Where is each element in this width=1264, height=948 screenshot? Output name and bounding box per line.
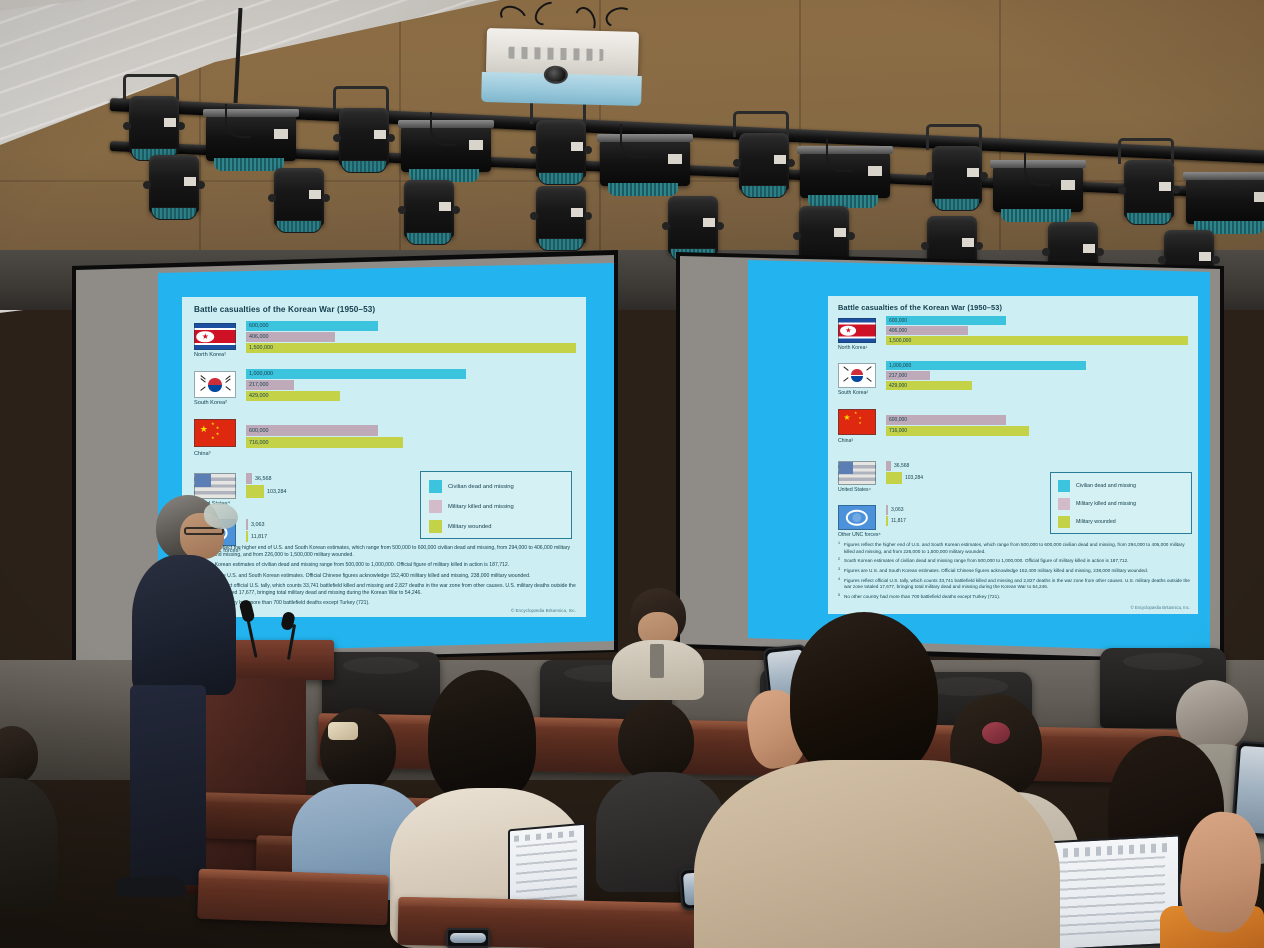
chart-legend: Civilian dead and missing Military kille… [420, 471, 572, 539]
footnote: 2 South Korean estimates of civilian dea… [194, 562, 578, 569]
stage-light-fixture [129, 96, 179, 154]
bar-military-killed: 217,000 [246, 380, 576, 390]
footnote: 4 Figures reflect official U.S. tally, w… [194, 583, 578, 597]
footnote: 1 Figures reflect the higher end of U.S.… [194, 545, 578, 559]
bar-military-killed: 406,000 [886, 326, 1188, 335]
bar-civilian: 1,000,000 [246, 369, 576, 379]
slide-title: Battle casualties of the Korean War (195… [194, 305, 375, 314]
bar-military-killed: 406,000 [246, 332, 576, 342]
lecture-hall-photo: Battle casualties of the Korean War (195… [0, 0, 1264, 948]
footnote-marker: 4 [838, 577, 840, 582]
flag-north-korea-icon: ★ [194, 323, 236, 350]
stage-light-fresnel [1186, 178, 1264, 224]
legend-item-military-killed: Military killed and missing [1058, 498, 1136, 510]
footnote-marker: 1 [838, 541, 840, 546]
chart-row-north-korea: ★ North Korea¹ 600,000 406,000 [194, 321, 578, 369]
chart-row-label: South Korea² [194, 400, 227, 406]
hair-clip [328, 722, 358, 740]
presenter-hand [204, 503, 238, 529]
chart-row-label: North Korea¹ [194, 352, 226, 358]
bar-value: 217,000 [889, 373, 907, 379]
bench-top-edge [398, 897, 698, 912]
stage-light-fresnel [206, 115, 296, 161]
flag-north-korea-icon: ★ [838, 318, 876, 343]
bar-value: 103,284 [905, 475, 923, 481]
bar-civilian: 600,000 [246, 321, 576, 331]
stage-light-fixture [274, 168, 324, 226]
bar-military-killed: 600,000 [886, 415, 1188, 425]
flag-china-icon: ★ ★ ★ ★ ★ [194, 419, 236, 447]
bar-group: 600,000 406,000 1,500,000 [246, 321, 576, 354]
footnote-marker: 5 [838, 593, 840, 598]
presenter-legs [130, 685, 206, 885]
legend-label: Military killed and missing [448, 504, 514, 510]
person-head [320, 708, 396, 792]
stage-light-fixture [536, 120, 586, 178]
person-torso [0, 778, 58, 908]
bar-value: 217,000 [249, 382, 269, 388]
slide-title: Battle casualties of the Korean War (195… [838, 303, 1002, 312]
legend-swatch-icon [1058, 516, 1070, 528]
bar-value: 1,500,000 [249, 345, 273, 351]
hair-scrunchie [982, 722, 1010, 744]
phone-on-desk [446, 928, 490, 948]
person-head [618, 700, 694, 782]
stage-light-fixture [668, 196, 718, 254]
bar-value: 716,000 [249, 440, 269, 446]
power-cable [225, 104, 251, 138]
bar-group: 600,000 406,000 1,500,000 [886, 316, 1188, 346]
bar-military-killed: 600,000 [246, 425, 576, 436]
footnote-marker: 2 [838, 557, 840, 562]
stage-light-fixture [149, 155, 199, 213]
bar-military-wounded: 429,000 [886, 381, 1188, 390]
bar-value: 429,000 [889, 383, 907, 389]
bar-value: 600,000 [249, 428, 269, 434]
bar-value: 716,000 [889, 428, 907, 434]
chart-row-label: China³ [194, 451, 210, 457]
bar-value: 3,063 [891, 507, 904, 513]
chart-row-south-korea: South Korea² 1,000,000 217,000 [838, 361, 1190, 407]
footnote-text: Figures are U.S. and South Korean estima… [200, 573, 530, 579]
bar-value: 406,000 [889, 328, 907, 334]
bar-group: 600,000 716,000 [246, 425, 576, 449]
footnote-text: Figures reflect the higher end of U.S. a… [844, 542, 1185, 554]
chart-row-label: Other UNC forces⁵ [838, 532, 881, 538]
stage-light-fixture [404, 180, 454, 238]
footnote-text: No other country had more than 700 battl… [844, 594, 1000, 599]
legend-swatch-icon [429, 480, 442, 493]
bar-value: 600,000 [889, 417, 907, 423]
legend-item-military-wounded: Military wounded [1058, 516, 1116, 528]
legend-swatch-icon [1058, 498, 1070, 510]
slide-left: Battle casualties of the Korean War (195… [182, 297, 586, 617]
flag-united-states-icon [838, 461, 876, 485]
bar-value: 11,817 [251, 534, 267, 540]
legend-label: Civilian dead and missing [448, 484, 514, 490]
legend-item-military-killed: Military killed and missing [429, 500, 514, 513]
person-head [790, 612, 938, 782]
flag-south-korea-icon [194, 371, 236, 398]
presenter-torso [132, 555, 236, 695]
presenter-shoes [116, 877, 186, 897]
bar-value: 11,817 [891, 518, 906, 524]
projector-ports [508, 47, 603, 61]
projection-screen-right: Battle casualties of the Korean War (195… [680, 256, 1220, 660]
footnote-text: Figures reflect the higher end of U.S. a… [200, 545, 570, 558]
footnote: 2 South Korean estimates of civilian dea… [838, 558, 1190, 565]
stage-light-fixture [799, 206, 849, 264]
bar-value: 1,500,000 [889, 338, 911, 344]
legend-label: Military wounded [1076, 519, 1116, 525]
person-torso [694, 760, 1060, 948]
legend-item-civilian: Civilian dead and missing [429, 480, 514, 493]
footnote-text: Figures are U.S. and South Korean estima… [844, 568, 1148, 573]
footnote: 4 Figures reflect official U.S. tally, w… [838, 578, 1190, 591]
bar-value: 600,000 [889, 318, 907, 324]
laptop-toolbar [1052, 843, 1170, 858]
audience-desk [197, 869, 389, 926]
footnote-text: Figures reflect official U.S. tally, whi… [200, 583, 576, 596]
footnote-text: South Korean estimates of civilian dead … [844, 558, 1128, 563]
chart-row-label: China³ [838, 438, 853, 444]
bar-group: 1,000,000 217,000 429,000 [246, 369, 576, 402]
power-cable [826, 138, 852, 172]
slide-right: Battle casualties of the Korean War (195… [828, 296, 1198, 614]
bar-value: 1,000,000 [889, 363, 911, 369]
footnote: 3 Figures are U.S. and South Korean esti… [838, 568, 1190, 575]
chart-row-china: ★ ★ ★ ★ ★ China³ 600,000 [194, 417, 578, 469]
phone-screen [450, 933, 486, 943]
bar-group: 600,000 716,000 [886, 415, 1188, 437]
ceiling-projector [481, 28, 645, 110]
projected-image-right: Battle casualties of the Korean War (195… [748, 260, 1210, 652]
chart-row-north-korea: ★ North Korea¹ 600,000 406,000 [838, 316, 1190, 361]
legend-label: Military killed and missing [1076, 501, 1136, 507]
stage-light-fixture [1124, 160, 1174, 218]
legend-item-civilian: Civilian dead and missing [1058, 480, 1136, 492]
chart-row-china: ★ ★ ★ ★ China³ 600,000 [838, 407, 1190, 457]
bar-value: 429,000 [249, 393, 269, 399]
flag-south-korea-icon [838, 363, 876, 388]
legend-swatch-icon [429, 500, 442, 513]
legend-swatch-icon [1058, 480, 1070, 492]
footnote-text: South Korean estimates of civilian dead … [200, 562, 509, 568]
stage-light-fixture [932, 146, 982, 204]
slide-footnotes: 1 Figures reflect the higher end of U.S.… [194, 545, 578, 608]
slide-footnotes: 1 Figures reflect the higher end of U.S.… [838, 542, 1190, 601]
bar-civilian: 1,000,000 [886, 361, 1188, 370]
stage-light-fixture [536, 186, 586, 244]
power-cable [430, 112, 456, 146]
bar-military-wounded: 1,500,000 [246, 343, 576, 353]
footnote: 5 No other country had more than 700 bat… [838, 594, 1190, 601]
laptop-content [1055, 856, 1165, 936]
footnote: 1 Figures reflect the higher end of U.S.… [838, 542, 1190, 555]
bar-military-wounded: 429,000 [246, 391, 576, 401]
chart-row-south-korea: South Korea² 1,000,000 217,000 [194, 369, 578, 417]
bar-military-wounded: 716,000 [246, 437, 576, 448]
stage-light-fixture [339, 108, 389, 166]
legend-item-military-wounded: Military wounded [429, 520, 492, 533]
legend-label: Military wounded [448, 524, 492, 530]
slide-credit: © Encyclopædia Britannica, Inc. [1131, 605, 1190, 610]
bar-group: 1,000,000 217,000 429,000 [886, 361, 1188, 391]
person-head [428, 670, 536, 804]
bar-value: 3,063 [251, 522, 265, 528]
footnote: 3 Figures are U.S. and South Korean esti… [194, 573, 578, 580]
footnote-marker: 3 [838, 567, 840, 572]
chart-legend: Civilian dead and missing Military kille… [1050, 472, 1192, 534]
flag-united-states-icon [194, 473, 236, 499]
flag-china-icon: ★ ★ ★ ★ [838, 409, 876, 435]
audience-desk [398, 897, 699, 948]
bar-military-wounded: 1,500,000 [886, 336, 1188, 345]
slide-credit: © Encyclopædia Britannica, Inc. [511, 608, 576, 613]
power-cable [1024, 152, 1050, 186]
necktie [650, 644, 664, 678]
bar-military-killed: 217,000 [886, 371, 1188, 380]
bar-value: 36,568 [255, 476, 272, 482]
bar-value: 600,000 [249, 323, 269, 329]
legend-swatch-icon [429, 520, 442, 533]
bar-value: 1,000,000 [249, 371, 273, 377]
chart-row-label: North Korea¹ [838, 345, 867, 351]
bar-civilian: 600,000 [886, 316, 1188, 325]
chart-row-label: United States⁴ [838, 487, 871, 493]
bar-value: 406,000 [249, 334, 269, 340]
flag-united-nations-icon [838, 505, 876, 530]
bar-military-wounded: 716,000 [886, 426, 1188, 436]
bar-value: 103,284 [267, 489, 287, 495]
chart-row-label: South Korea² [838, 390, 868, 396]
stage-light-fixture [739, 133, 789, 191]
legend-label: Civilian dead and missing [1076, 483, 1136, 489]
bar-military-killed: 36,568 [886, 461, 1188, 471]
footnote-text: Figures reflect official U.S. tally, whi… [844, 578, 1190, 590]
power-cable [620, 124, 646, 158]
laptop-content [516, 840, 577, 903]
bar-value: 36,568 [894, 463, 909, 469]
